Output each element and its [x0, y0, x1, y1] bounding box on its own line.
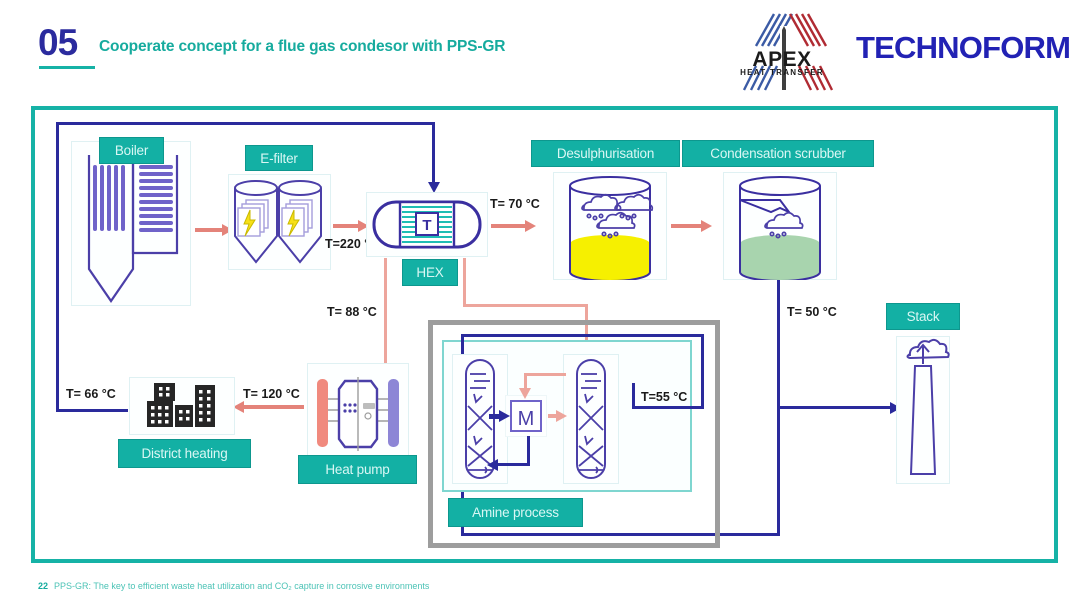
pink-arrow-hex-to-desulph-line [491, 224, 526, 228]
technoform-logo-text: TECHNOFORM [856, 30, 1070, 66]
amine-column-right-icon [563, 354, 619, 484]
label-boiler: Boiler [99, 137, 164, 164]
navy-line-exchanger-return-down [527, 436, 530, 466]
label-hex: HEX [402, 259, 458, 286]
navy-line-to-stack [777, 406, 893, 409]
boiler-icon [71, 141, 191, 306]
navy-line-amine-out-top [632, 383, 634, 386]
temp-label-55: T=55 °C [641, 390, 687, 404]
label-efilter: E-filter [245, 145, 313, 171]
navy-line-amine-loop-top [461, 334, 704, 337]
district-heating-icon [129, 377, 235, 435]
temp-label-70: T= 70 °C [490, 197, 540, 211]
navy-line-to-hex [432, 122, 435, 184]
temp-label-120: T= 120 °C [243, 387, 300, 401]
temp-label-50: T= 50 °C [787, 305, 837, 319]
apex-logo-subtext: HEAT TRANSFER [722, 68, 842, 77]
navy-line-amine-loop-out [632, 406, 704, 409]
amine-exchanger-icon: M [505, 395, 547, 437]
navy-line-left-riser [56, 122, 59, 412]
pink-arrow-hex-to-desulph-head [525, 220, 536, 232]
pink-arrow-desulph-to-scrubber-line [671, 224, 702, 228]
pink-line-hex-branch-down [463, 258, 466, 306]
pink-arrow-heatpump-to-district-line [244, 405, 304, 409]
navy-arrow-exchanger-return-head [487, 459, 498, 471]
label-amine-process: Amine process [448, 498, 583, 527]
desulphurisation-icon [553, 172, 667, 280]
apex-logo: APEX HEAT TRANSFER [722, 12, 842, 92]
pink-line-feed-exchanger-top [524, 373, 566, 376]
slide-number: 05 [38, 24, 77, 61]
navy-line-scrubber-to-amine-down [777, 406, 780, 536]
pink-arrow-exchanger-to-rightcol-head [556, 410, 567, 422]
label-stack: Stack [886, 303, 960, 330]
hex-icon: T [366, 192, 488, 257]
efilter-icon [228, 174, 331, 270]
hex-marking-t: T [422, 217, 431, 234]
pink-arrow-desulph-to-scrubber-head [701, 220, 712, 232]
temp-label-66: T= 66 °C [66, 387, 116, 401]
label-heat-pump: Heat pump [298, 455, 417, 484]
footer-text: PPS-GR: The key to efficient waste heat … [54, 581, 429, 591]
pink-arrow-efilter-to-hex-line [333, 224, 359, 228]
amine-exchanger-marking-m: M [518, 408, 535, 430]
stack-icon [896, 336, 950, 484]
pink-line-hex-to-heatpump [384, 258, 387, 365]
slide-number-underline [39, 66, 95, 69]
page-title: Cooperate concept for a flue gas condeso… [99, 38, 505, 56]
footer-page-number: 22 [38, 581, 48, 591]
condensation-scrubber-icon [723, 172, 837, 280]
navy-line-exchanger-return-left [497, 463, 530, 466]
label-district-heating: District heating [118, 439, 251, 468]
temp-label-88: T= 88 °C [327, 305, 377, 319]
navy-line-amine-out-riser [632, 383, 635, 408]
pink-arrow-feed-exchanger-head [519, 388, 531, 399]
navy-line-top [56, 122, 435, 125]
heat-pump-icon [307, 363, 409, 461]
navy-line-district-return [56, 409, 128, 412]
pink-line-hex-branch-right [463, 304, 587, 307]
navy-arrow-leftcol-to-exchanger-head [499, 410, 510, 422]
navy-line-scrubber-down [777, 280, 780, 407]
navy-line-amine-loop-right [701, 334, 704, 409]
label-desulphurisation: Desulphurisation [531, 140, 680, 167]
pink-arrow-boiler-to-efilter-line [195, 228, 223, 232]
label-condensation-scrubber: Condensation scrubber [682, 140, 874, 167]
